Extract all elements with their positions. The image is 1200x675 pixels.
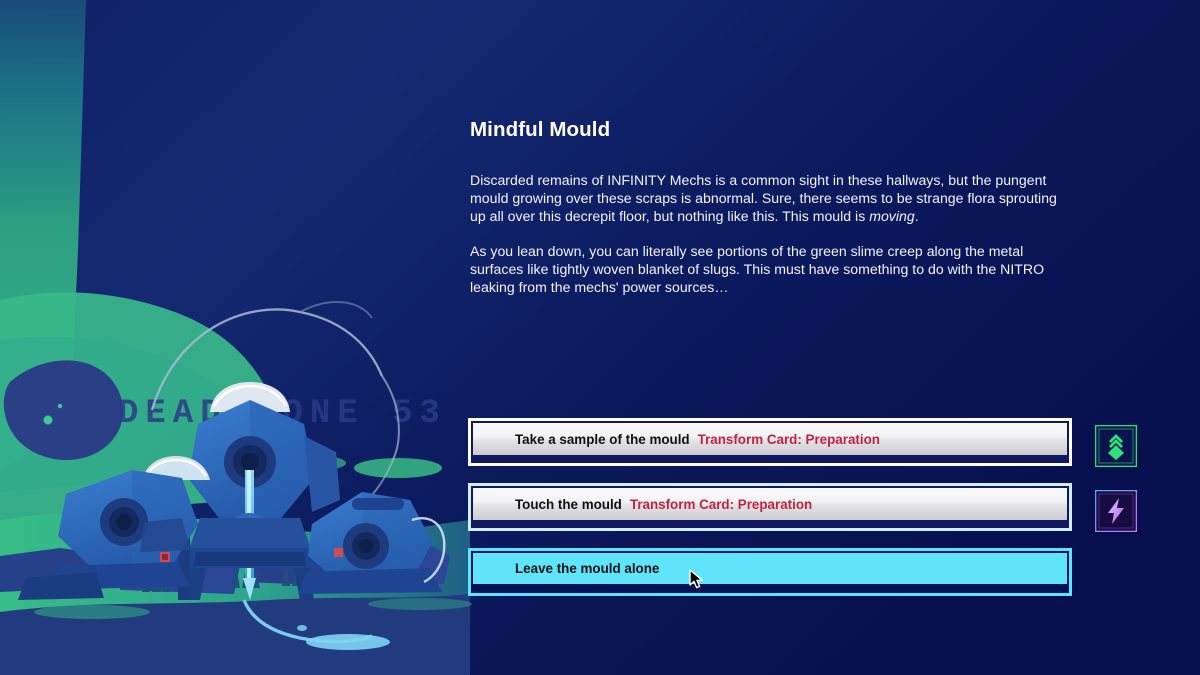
- story-paragraph-1: Discarded remains of INFINITY Mechs is a…: [470, 172, 1075, 225]
- choice-option-3-label: Leave the mould alone: [515, 561, 659, 576]
- story-emphasis-word: moving: [869, 208, 915, 224]
- choice-option-2-label: Touch the mould: [515, 497, 622, 512]
- choice-option-2-face: Touch the mould Transform Card: Preparat…: [473, 488, 1067, 520]
- choice-option-2[interactable]: Touch the mould Transform Card: Preparat…: [468, 483, 1072, 531]
- choice-option-1-effect: Transform Card: Preparation: [698, 432, 880, 447]
- choice-option-1-label: Take a sample of the mould: [515, 432, 690, 447]
- story-panel: Mindful Mould Discarded remains of INFIN…: [470, 118, 1075, 315]
- energy-bolt-icon[interactable]: [1095, 490, 1137, 532]
- choice-option-1-face: Take a sample of the mould Transform Car…: [473, 423, 1067, 455]
- card-transform-icon[interactable]: [1095, 425, 1137, 467]
- story-paragraph-1-text: Discarded remains of INFINITY Mechs is a…: [470, 172, 1057, 224]
- choice-option-3[interactable]: Leave the mould alone: [468, 548, 1072, 596]
- choice-option-1[interactable]: Take a sample of the mould Transform Car…: [468, 418, 1072, 466]
- choice-option-2-effect: Transform Card: Preparation: [630, 497, 812, 512]
- choice-option-3-frame: Leave the mould alone: [471, 551, 1069, 593]
- story-paragraph-2: As you lean down, you can literally see …: [470, 243, 1075, 296]
- choice-option-1-frame: Take a sample of the mould Transform Car…: [471, 421, 1069, 463]
- page-title: Mindful Mould: [470, 118, 1075, 142]
- story-emphasis-tail: .: [915, 208, 919, 224]
- choice-list: Take a sample of the mould Transform Car…: [468, 418, 1072, 613]
- choice-option-3-face: Leave the mould alone: [473, 553, 1067, 584]
- choice-option-2-frame: Touch the mould Transform Card: Preparat…: [471, 486, 1069, 528]
